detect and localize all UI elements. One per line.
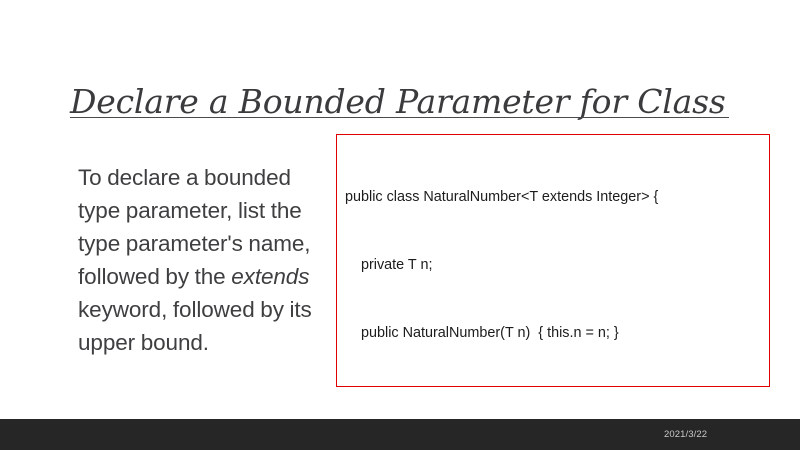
slide-canvas: Declare a Bounded Parameter for Class To… <box>0 0 800 450</box>
body-text-after-italic: keyword, followed by its upper bound. <box>78 297 312 355</box>
title-divider <box>70 117 729 118</box>
body-text-italic-keyword: extends <box>231 264 309 289</box>
code-line: public class NaturalNumber<T extends Int… <box>345 186 767 209</box>
code-line: public NaturalNumber(T n) { this.n = n; … <box>345 322 767 345</box>
code-listing: public class NaturalNumber<T extends Int… <box>345 141 767 387</box>
code-line: private T n; <box>345 254 767 277</box>
code-panel: public class NaturalNumber<T extends Int… <box>336 134 770 387</box>
footer-date: 2021/3/22 <box>664 429 707 441</box>
body-paragraph: To declare a bounded type parameter, lis… <box>78 161 330 359</box>
